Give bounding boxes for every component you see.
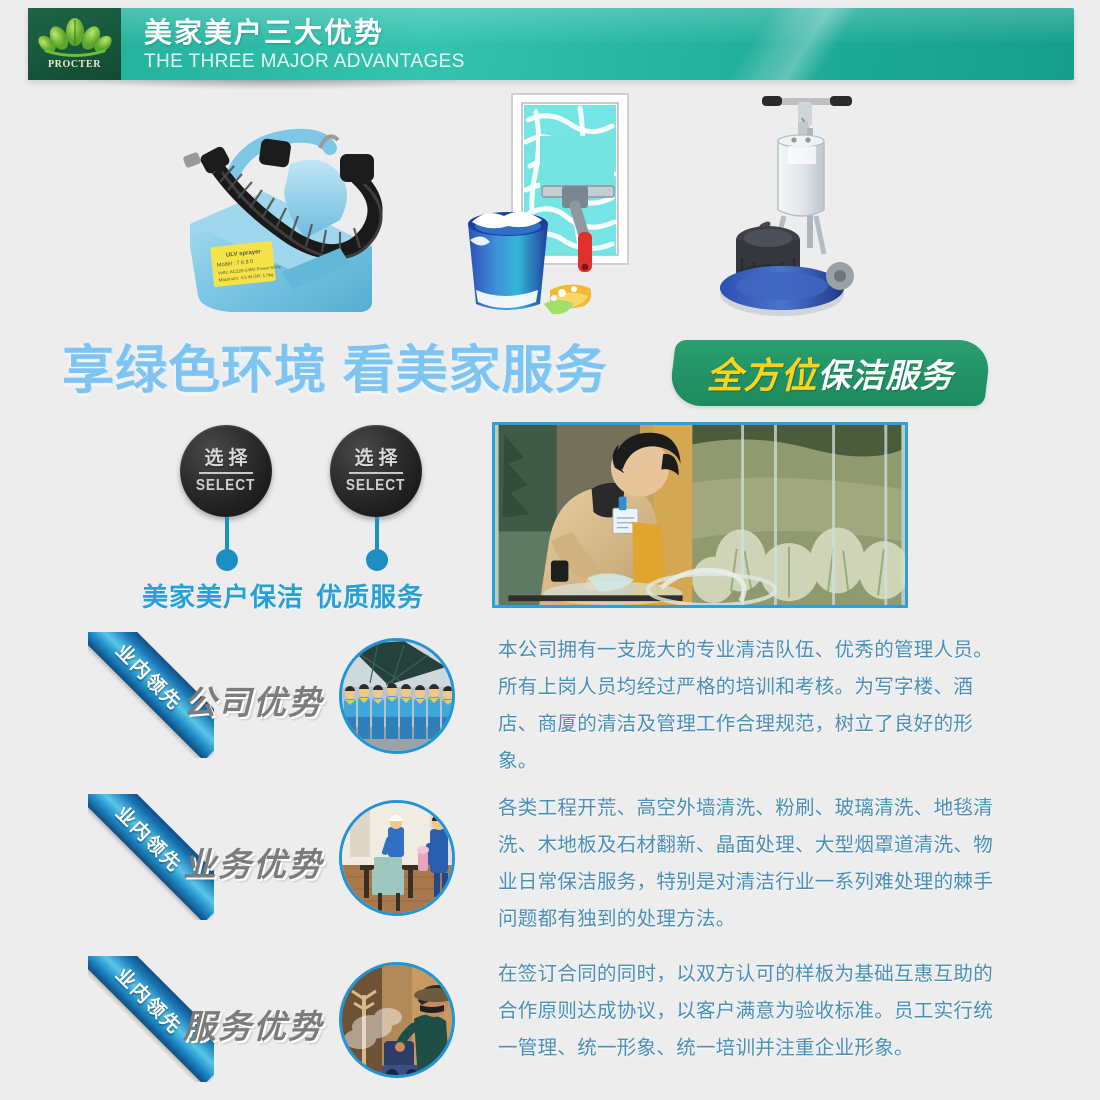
header-title-group: 美家美户三大优势 THE THREE MAJOR ADVANTAGES <box>144 17 465 74</box>
advantage-body: 本公司拥有一支庞大的专业清洁队伍、优秀的管理人员。所有上岗人员均经过严格的培训和… <box>498 632 1008 780</box>
corner-ribbon-label: 业内领先 <box>111 961 189 1039</box>
advantage-row-business: 业内领先 业务优势 <box>0 790 1100 938</box>
product-image-ulv-sprayer: ULV sprayer Model : 7 6 8 0 Volts: AC220… <box>172 96 412 328</box>
floor-polisher-icon <box>712 88 892 328</box>
brand-logo[interactable]: PROCTER <box>28 8 121 80</box>
cleaning-worker-illustration <box>495 425 905 605</box>
indoor-cleaning-photo <box>339 800 455 916</box>
product-image-row: ULV sprayer Model : 7 6 8 0 Volts: AC220… <box>0 88 1100 338</box>
select-badge-en: SELECT <box>196 476 255 495</box>
select-badge-en: SELECT <box>346 476 405 495</box>
page-header: PROCTER 美家美户三大优势 THE THREE MAJOR ADVANTA… <box>28 8 1074 80</box>
header-title-en: THE THREE MAJOR ADVANTAGES <box>144 50 465 74</box>
select-badge-label-2: 优质服务 <box>316 577 424 614</box>
cleaning-worker-photo <box>492 422 908 608</box>
staff-team-illustration <box>342 641 455 754</box>
indoor-cleaning-illustration <box>342 803 455 916</box>
advantage-title: 服务优势 <box>183 1000 323 1048</box>
section-headline: 享绿色环境 看美家服务 <box>62 340 607 402</box>
select-badge-circle: 选择 SELECT <box>330 425 422 517</box>
corner-ribbon-label: 业内领先 <box>111 799 189 877</box>
steam-cleaning-photo <box>339 962 455 1078</box>
header-title-cn: 美家美户三大优势 <box>144 17 465 49</box>
product-image-squeegee-bucket <box>450 90 682 328</box>
full-service-highlight: 全方位 <box>706 347 817 399</box>
select-badge-2[interactable]: 选择 SELECT <box>330 425 422 517</box>
ulv-sprayer-icon: ULV sprayer Model : 7 6 8 0 Volts: AC220… <box>172 96 412 328</box>
advantage-body: 各类工程开荒、高空外墙清洗、粉刷、玻璃清洗、地毯清洗、木地板及石材翻新、晶面处理… <box>498 790 1008 938</box>
leaf-crown-icon <box>38 18 112 60</box>
select-badge-label-1: 美家美户保洁 <box>142 577 304 614</box>
full-service-rest: 保洁服务 <box>818 349 954 397</box>
select-badge-dot <box>366 549 388 571</box>
select-badge-dot <box>216 549 238 571</box>
select-badge-cn: 选择 <box>349 448 402 474</box>
staff-team-photo <box>339 638 455 754</box>
product-image-floor-polisher <box>712 88 892 328</box>
window-squeegee-icon <box>450 90 682 328</box>
select-badge-1[interactable]: 选择 SELECT <box>180 425 272 517</box>
advantage-body: 在签订合同的同时，以双方认可的样板为基础互惠互助的合作原则达成协议，以客户满意为… <box>498 956 1008 1067</box>
logo-wordmark: PROCTER <box>48 59 101 70</box>
full-service-badge-text: 全方位 保洁服务 <box>672 340 988 406</box>
select-badge-stem <box>375 517 379 553</box>
advantage-title: 业务优势 <box>183 838 323 886</box>
select-badge-cn: 选择 <box>199 448 252 474</box>
advantage-title: 公司优势 <box>183 676 323 724</box>
select-badge-stem <box>225 517 229 553</box>
advantage-row-service: 业内领先 服务优势 <box>0 952 1100 1100</box>
corner-ribbon-label: 业内领先 <box>111 637 189 715</box>
select-badge-circle: 选择 SELECT <box>180 425 272 517</box>
advantage-row-company: 业内领先 公司优势 <box>0 628 1100 776</box>
steam-cleaning-illustration <box>342 965 455 1078</box>
select-badge-group: 选择 SELECT 选择 SELECT 美家美户保洁 优质服务 <box>0 425 470 615</box>
full-service-badge: 全方位 保洁服务 <box>672 340 988 406</box>
